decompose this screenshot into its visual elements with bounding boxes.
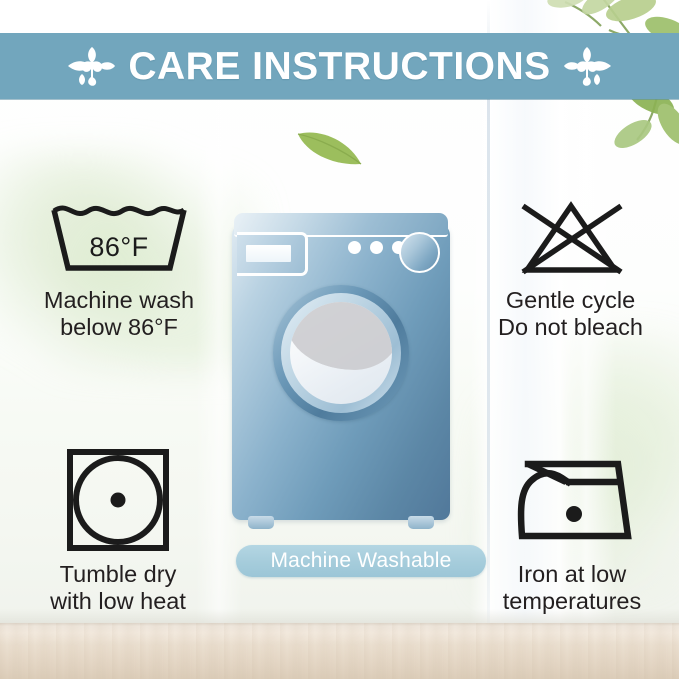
wooden-table-grain — [0, 623, 679, 679]
caption-line-1: Machine wash — [44, 287, 194, 313]
care-caption-machine-wash: Machine wash below 86°F — [12, 287, 226, 342]
caption-line-2: temperatures — [470, 588, 674, 615]
caption-line-1: Iron at low — [518, 561, 626, 587]
care-instructions-infographic: CARE INSTRUCTIONS — [0, 0, 679, 679]
control-indicator-lights — [348, 241, 405, 254]
do-not-bleach-triangle-icon — [468, 198, 673, 278]
washer-door-outer-ring — [273, 285, 409, 421]
program-knob — [399, 232, 440, 273]
fleur-de-lis-icon — [561, 43, 613, 89]
detergent-drawer — [237, 232, 308, 276]
care-caption-do-not-bleach: Gentle cycle Do not bleach — [468, 287, 673, 342]
care-caption-tumble-dry: Tumble dry with low heat — [14, 561, 222, 616]
care-caption-iron-low: Iron at low temperatures — [470, 561, 674, 616]
care-icon-do-not-bleach: Gentle cycle Do not bleach — [468, 198, 673, 342]
fleur-de-lis-icon — [66, 43, 118, 89]
washer-door-glass — [290, 302, 392, 404]
care-icon-tumble-dry: Tumble dry with low heat — [14, 448, 222, 616]
caption-line-1: Tumble dry — [60, 561, 177, 587]
iron-low-temperature-icon — [470, 448, 674, 552]
wash-temperature-label: 86°F — [12, 232, 226, 263]
indicator-dot — [348, 241, 361, 254]
wash-tub-icon: 86°F — [12, 198, 226, 278]
caption-line-1: Gentle cycle — [506, 287, 635, 313]
floating-leaf-icon — [293, 120, 365, 170]
care-icon-iron-low: Iron at low temperatures — [470, 448, 674, 616]
washer-foot-left — [248, 516, 274, 529]
indicator-dot — [370, 241, 383, 254]
washer-door-inner-ring — [281, 293, 401, 413]
washer-foot-right — [408, 516, 434, 529]
caption-line-2: with low heat — [14, 588, 222, 615]
washing-machine-illustration — [232, 213, 450, 531]
detergent-drawer-slot — [246, 245, 291, 262]
washer-feet — [232, 516, 450, 531]
care-icon-machine-wash: 86°F Machine wash below 86°F — [12, 198, 226, 342]
page-title: CARE INSTRUCTIONS — [118, 47, 560, 86]
caption-line-2: Do not bleach — [468, 314, 673, 341]
machine-washable-badge: Machine Washable — [236, 545, 486, 577]
caption-line-2: below 86°F — [12, 314, 226, 341]
header-banner: CARE INSTRUCTIONS — [0, 33, 679, 99]
tumble-dry-low-icon — [14, 448, 222, 552]
washer-door-swirl — [290, 302, 392, 370]
